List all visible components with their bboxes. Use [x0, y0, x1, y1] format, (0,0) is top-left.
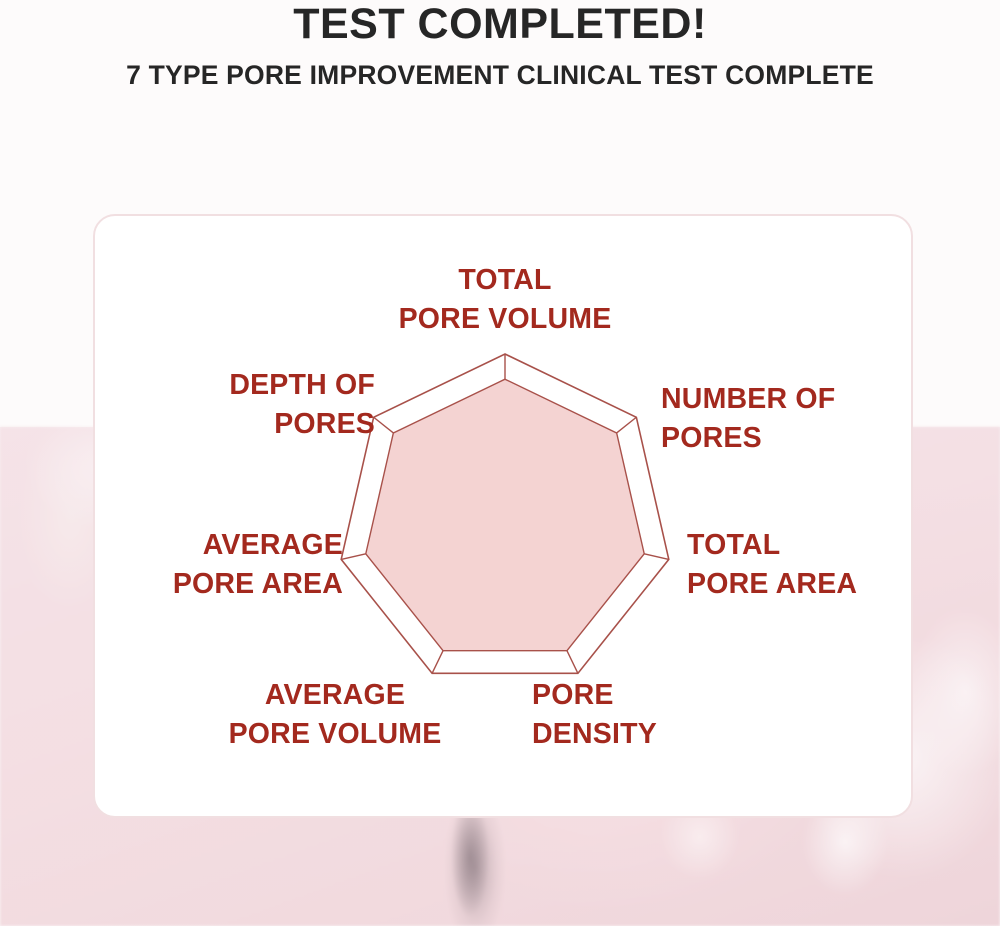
radar-spoke: [567, 651, 578, 674]
page-root: TEST COMPLETED! 7 TYPE PORE IMPROVEMENT …: [0, 0, 1000, 926]
axis-label-total-pore-volume: TOTAL PORE VOLUME: [330, 261, 680, 339]
radar-spoke: [374, 417, 394, 433]
radar-chart: TOTAL PORE VOLUME NUMBER OF PORES TOTAL …: [95, 216, 915, 820]
radar-spoke: [432, 651, 443, 674]
page-title: TEST COMPLETED!: [0, 0, 1000, 47]
radar-spoke: [617, 417, 637, 433]
axis-label-average-pore-area: AVERAGE PORE AREA: [87, 526, 343, 604]
axis-label-average-pore-volume: AVERAGE PORE VOLUME: [140, 676, 530, 754]
radar-spoke: [644, 554, 669, 560]
radar-spoke: [341, 554, 366, 560]
axis-label-number-of-pores: NUMBER OF PORES: [661, 380, 921, 458]
axis-label-pore-density: PORE DENSITY: [532, 676, 752, 754]
radar-value-heptagon: [366, 379, 644, 650]
page-subtitle: 7 TYPE PORE IMPROVEMENT CLINICAL TEST CO…: [0, 47, 1000, 90]
header: TEST COMPLETED! 7 TYPE PORE IMPROVEMENT …: [0, 0, 1000, 90]
axis-label-depth-of-pores: DEPTH OF PORES: [105, 366, 375, 444]
radar-chart-card: TOTAL PORE VOLUME NUMBER OF PORES TOTAL …: [93, 214, 913, 818]
axis-label-total-pore-area: TOTAL PORE AREA: [687, 526, 917, 604]
radar-series-area: [366, 379, 644, 650]
